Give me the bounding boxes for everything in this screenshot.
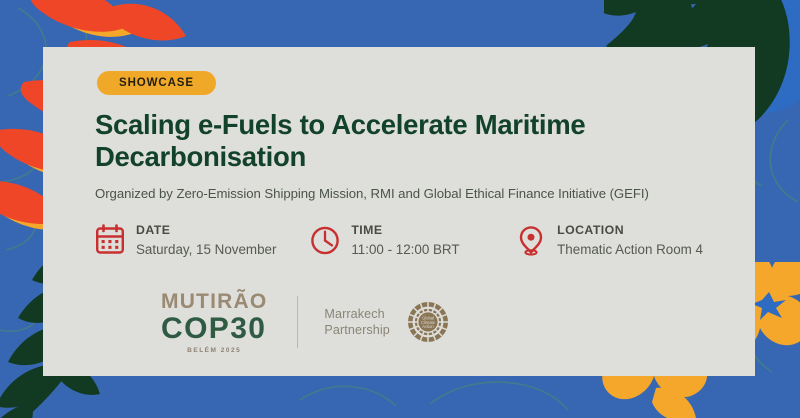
detail-label-location: LOCATION bbox=[557, 223, 703, 238]
belem-subtitle: BELÉM 2025 bbox=[161, 347, 267, 354]
page-title: Scaling e-Fuels to Accelerate Maritime D… bbox=[95, 109, 695, 173]
detail-value-time: 11:00 - 12:00 BRT bbox=[351, 240, 459, 259]
status-badge: SHOWCASE bbox=[97, 71, 216, 95]
partnership-line-1: Marrakech bbox=[324, 306, 390, 322]
organizer-text: Organized by Zero-Emission Shipping Miss… bbox=[95, 186, 703, 201]
seal-line-3: Action bbox=[422, 324, 434, 329]
partnership-wordmark: Marrakech Partnership bbox=[324, 306, 390, 338]
event-detail-date: DATE Saturday, 15 November bbox=[95, 223, 310, 259]
detail-value-location: Thematic Action Room 4 bbox=[557, 240, 703, 259]
global-climate-action-seal: Global Climate Action bbox=[404, 298, 452, 346]
mutirao-wordmark: MUTIRÃO bbox=[161, 291, 267, 312]
event-detail-location: LOCATION Thematic Action Room 4 bbox=[516, 223, 703, 259]
cop30-wordmark: COP30 bbox=[161, 313, 267, 345]
event-detail-time: TIME 11:00 - 12:00 BRT bbox=[310, 223, 516, 259]
event-card: SHOWCASE Scaling e-Fuels to Accelerate M… bbox=[43, 47, 755, 376]
detail-label-date: DATE bbox=[136, 223, 276, 238]
detail-label-time: TIME bbox=[351, 223, 459, 238]
calendar-icon bbox=[95, 224, 125, 256]
event-details-row: DATE Saturday, 15 November TIME 11:00 - … bbox=[95, 223, 703, 259]
detail-value-date: Saturday, 15 November bbox=[136, 240, 276, 259]
cop30-logo: MUTIRÃO COP30 BELÉM 2025 bbox=[161, 291, 267, 355]
location-pin-icon bbox=[516, 224, 546, 256]
clock-icon bbox=[310, 224, 340, 256]
marrakech-partnership-logo: Marrakech Partnership bbox=[297, 296, 452, 348]
partnership-line-2: Partnership bbox=[324, 322, 390, 338]
logo-lockup: MUTIRÃO COP30 BELÉM 2025 Marrakech Partn… bbox=[161, 291, 452, 355]
